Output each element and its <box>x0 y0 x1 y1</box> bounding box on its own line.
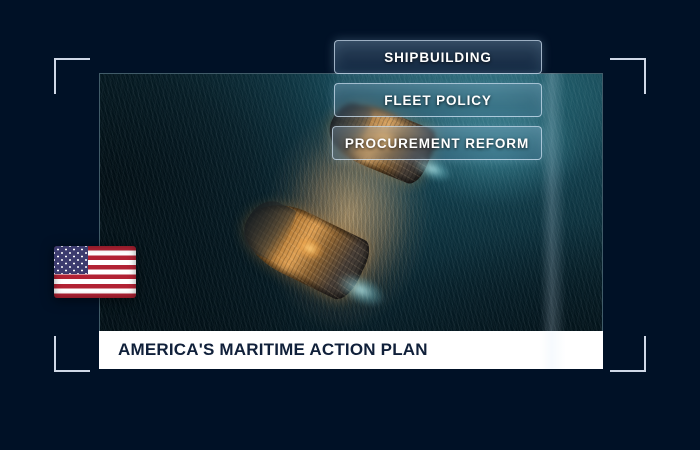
bracket-arm-horizontal <box>610 58 646 60</box>
bracket-arm-vertical <box>644 58 646 94</box>
bracket-arm-vertical <box>644 336 646 372</box>
us-flag-canton <box>54 246 88 274</box>
bracket-arm-horizontal <box>54 370 90 372</box>
bracket-arm-horizontal <box>54 58 90 60</box>
badge-label: FLEET POLICY <box>384 93 492 108</box>
corner-bracket-top-left-icon <box>54 58 90 94</box>
bracket-arm-vertical <box>54 336 56 372</box>
badge-label: PROCUREMENT REFORM <box>345 136 529 151</box>
title-bar: AMERICA'S MARITIME ACTION PLAN <box>99 331 603 369</box>
corner-bracket-bottom-left-icon <box>54 336 90 372</box>
badge-procurement-reform[interactable]: PROCUREMENT REFORM <box>332 126 542 160</box>
corner-bracket-bottom-right-icon <box>610 336 646 372</box>
corner-bracket-top-right-icon <box>610 58 646 94</box>
slide-canvas: SHIPBUILDING FLEET POLICY PROCUREMENT RE… <box>0 0 700 450</box>
badge-label: SHIPBUILDING <box>384 50 492 65</box>
bracket-arm-vertical <box>54 58 56 94</box>
badge-fleet-policy[interactable]: FLEET POLICY <box>334 83 542 117</box>
us-flag-shape <box>54 246 136 298</box>
page-title: AMERICA'S MARITIME ACTION PLAN <box>99 340 428 360</box>
bracket-arm-horizontal <box>610 370 646 372</box>
us-flag-icon: 🇺🇸 <box>52 240 138 304</box>
topic-badge-list: SHIPBUILDING FLEET POLICY PROCUREMENT RE… <box>334 40 542 160</box>
badge-shipbuilding[interactable]: SHIPBUILDING <box>334 40 542 74</box>
